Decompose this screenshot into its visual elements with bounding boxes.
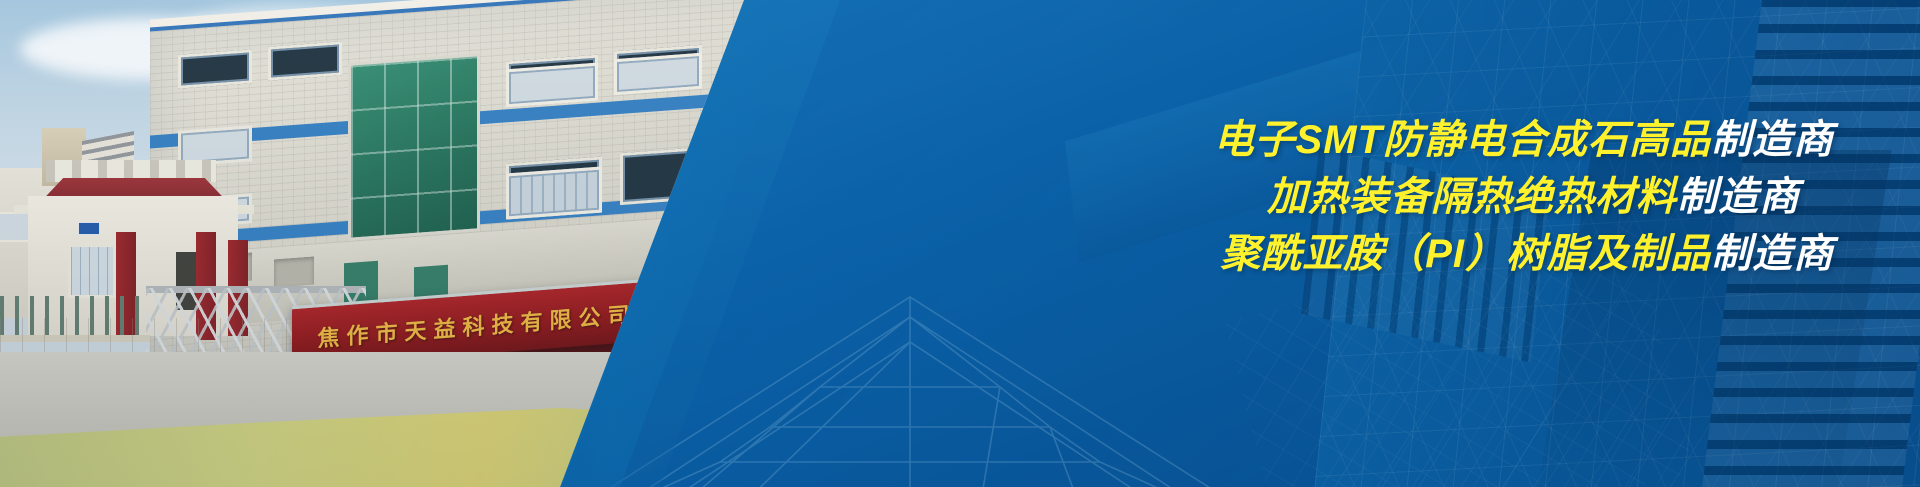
slogan-line-3-plain: 制造商 <box>1711 232 1834 276</box>
slogan-line-3-highlight: 聚酰亚胺（PI）树脂及制品 <box>1220 232 1711 276</box>
slogan-block: 电子SMT防静电合成石高品制造商 加热装备隔热绝热材料制造商 聚酰亚胺（PI）树… <box>1214 112 1834 282</box>
slogan-line-2-plain: 制造商 <box>1677 175 1800 219</box>
slogan-line-1: 电子SMT防静电合成石高品制造商 <box>1214 112 1834 169</box>
slogan-line-3: 聚酰亚胺（PI）树脂及制品制造商 <box>1214 226 1834 283</box>
slogan-line-1-highlight: 电子SMT防静电合成石高品 <box>1214 118 1711 162</box>
slogan-line-2-highlight: 加热装备隔热绝热材料 <box>1267 175 1677 219</box>
company-hero-banner: 焦作市天益科技有限公司 电子SMT防静电合成石高品制造商 加热装备隔热绝热材料制… <box>0 0 1920 487</box>
slogan-line-2: 加热装备隔热绝热材料制造商 <box>1214 169 1800 226</box>
slogan-line-1-plain: 制造商 <box>1711 118 1834 162</box>
